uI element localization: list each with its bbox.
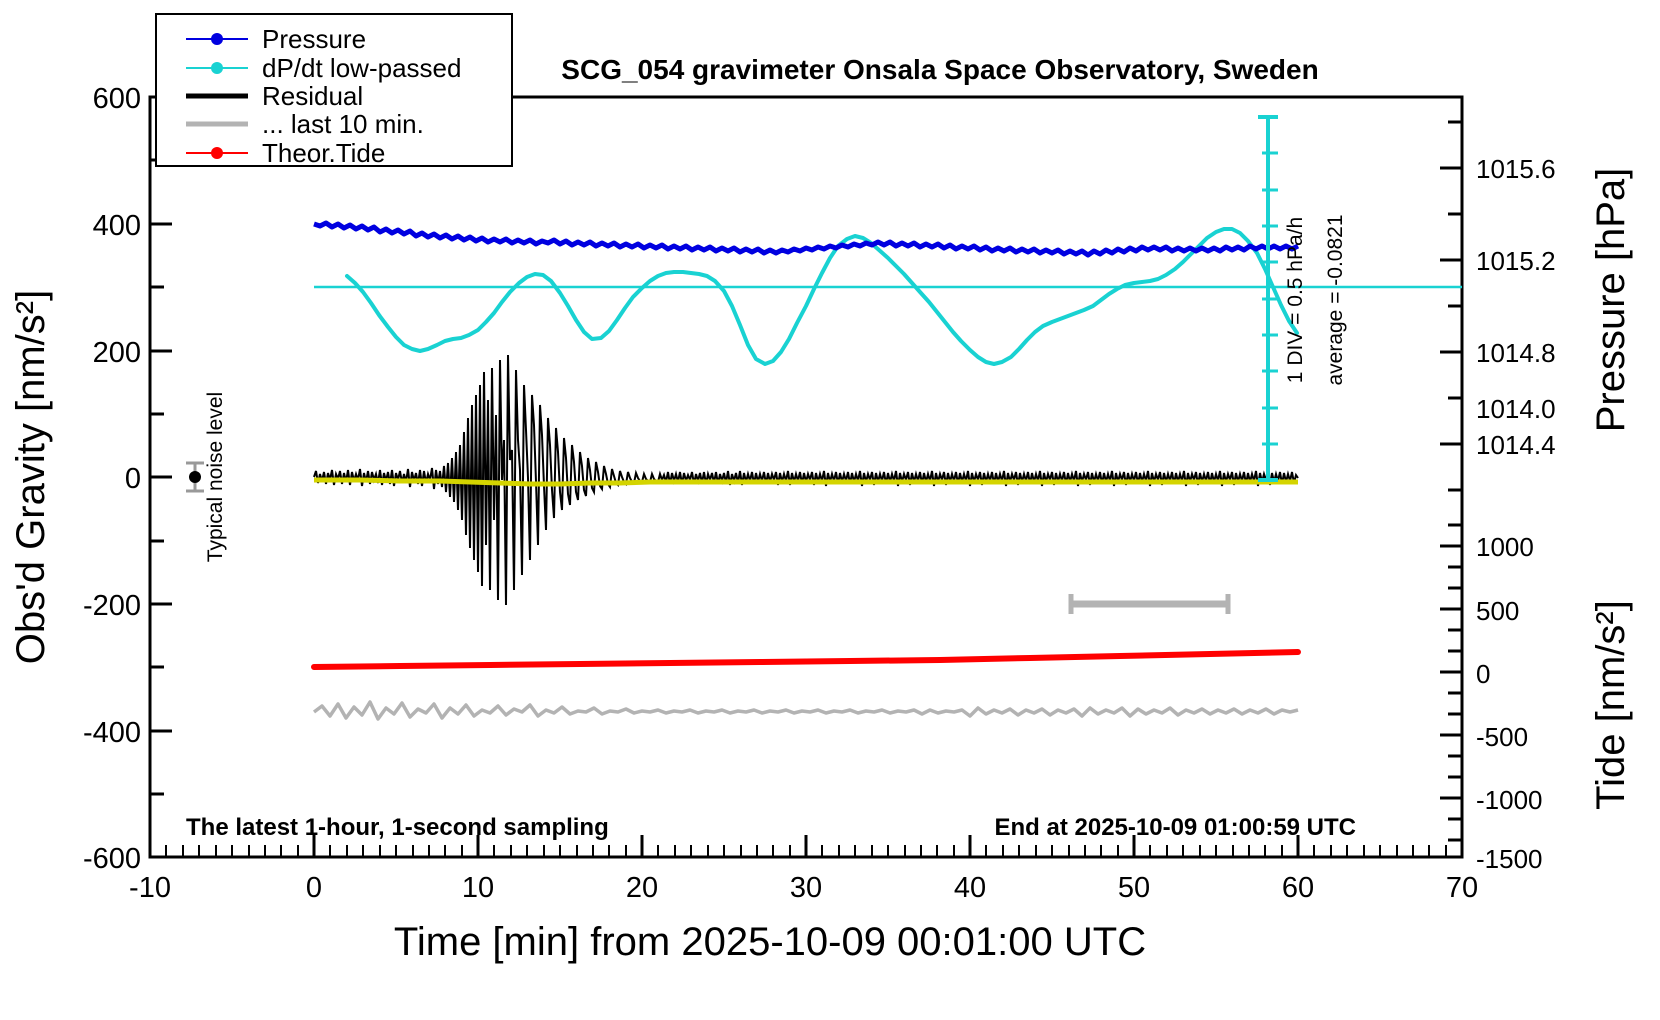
bottom-left-note: The latest 1-hour, 1-second sampling xyxy=(186,814,609,841)
theortide-marker-icon xyxy=(211,147,223,159)
t-tick-m1500: -1500 xyxy=(1476,844,1543,874)
t-tick-m500: -500 xyxy=(1476,722,1528,752)
typical-noise-level-label: Typical noise level xyxy=(204,392,227,562)
legend[interactable]: Pressure dP/dt low-passed Residual ... l… xyxy=(156,14,512,168)
left-tick-m400: -400 xyxy=(83,717,141,749)
x-tick-m10: -10 xyxy=(129,872,171,904)
left-tick-600: 600 xyxy=(93,83,141,115)
x-tick-30: 30 xyxy=(790,872,822,904)
left-tick-m600: -600 xyxy=(83,843,141,875)
x-tick-0: 0 xyxy=(306,872,322,904)
right-pressure-axis-label: Pressure [hPa] xyxy=(1589,168,1633,433)
legend-label-dpdt: dP/dt low-passed xyxy=(262,53,461,83)
legend-label-residual: Residual xyxy=(262,81,363,111)
t-tick-500: 500 xyxy=(1476,596,1519,626)
x-tick-70: 70 xyxy=(1446,872,1478,904)
x-tick-50: 50 xyxy=(1118,872,1150,904)
page-title: SCG_054 gravimeter Onsala Space Observat… xyxy=(561,54,1318,85)
p-tick-1014-0-visible: 1014.0 xyxy=(1476,394,1556,424)
dpdt-average-label: average = -0.0821 xyxy=(1324,214,1347,385)
legend-label-theortide: Theor.Tide xyxy=(262,138,385,168)
series-residual-smoothed xyxy=(314,480,1298,484)
bottom-axis-label: Time [min] from 2025-10-09 00:01:00 UTC xyxy=(394,920,1146,964)
bottom-right-note: End at 2025-10-09 01:00:59 UTC xyxy=(995,814,1357,841)
dpdt-marker-icon xyxy=(211,62,223,74)
left-tick-200: 200 xyxy=(93,337,141,369)
plot-svg: 600 400 200 0 -200 -400 -600 Obs'd Gravi… xyxy=(0,0,1660,1020)
left-axis-label: Obs'd Gravity [nm/s²] xyxy=(9,290,53,664)
x-tick-40: 40 xyxy=(954,872,986,904)
t-tick-m1000: -1000 xyxy=(1476,785,1543,815)
dpdt-scale-label: 1 DIV = 0.5 hPa/h xyxy=(1284,217,1307,383)
p-tick-1015-2: 1015.2 xyxy=(1476,246,1556,276)
legend-label-last10: ... last 10 min. xyxy=(262,109,424,139)
x-tick-20: 20 xyxy=(626,872,658,904)
p-tick-1015-6: 1015.6 xyxy=(1476,154,1556,184)
p-tick-1014-4: 1014.4 xyxy=(1476,430,1556,460)
p-tick-1014-8: 1014.8 xyxy=(1476,338,1556,368)
x-tick-60: 60 xyxy=(1282,872,1314,904)
left-tick-400: 400 xyxy=(93,210,141,242)
legend-label-pressure: Pressure xyxy=(262,24,366,54)
t-tick-1000: 1000 xyxy=(1476,532,1534,562)
left-tick-m200: -200 xyxy=(83,590,141,622)
x-tick-10: 10 xyxy=(462,872,494,904)
t-tick-0: 0 xyxy=(1476,659,1490,689)
gravimeter-plot-page: 600 400 200 0 -200 -400 -600 Obs'd Gravi… xyxy=(0,0,1660,1020)
pressure-marker-icon xyxy=(211,33,223,45)
right-tide-axis-label: Tide [nm/s²] xyxy=(1589,600,1633,810)
left-tick-0: 0 xyxy=(125,463,141,495)
